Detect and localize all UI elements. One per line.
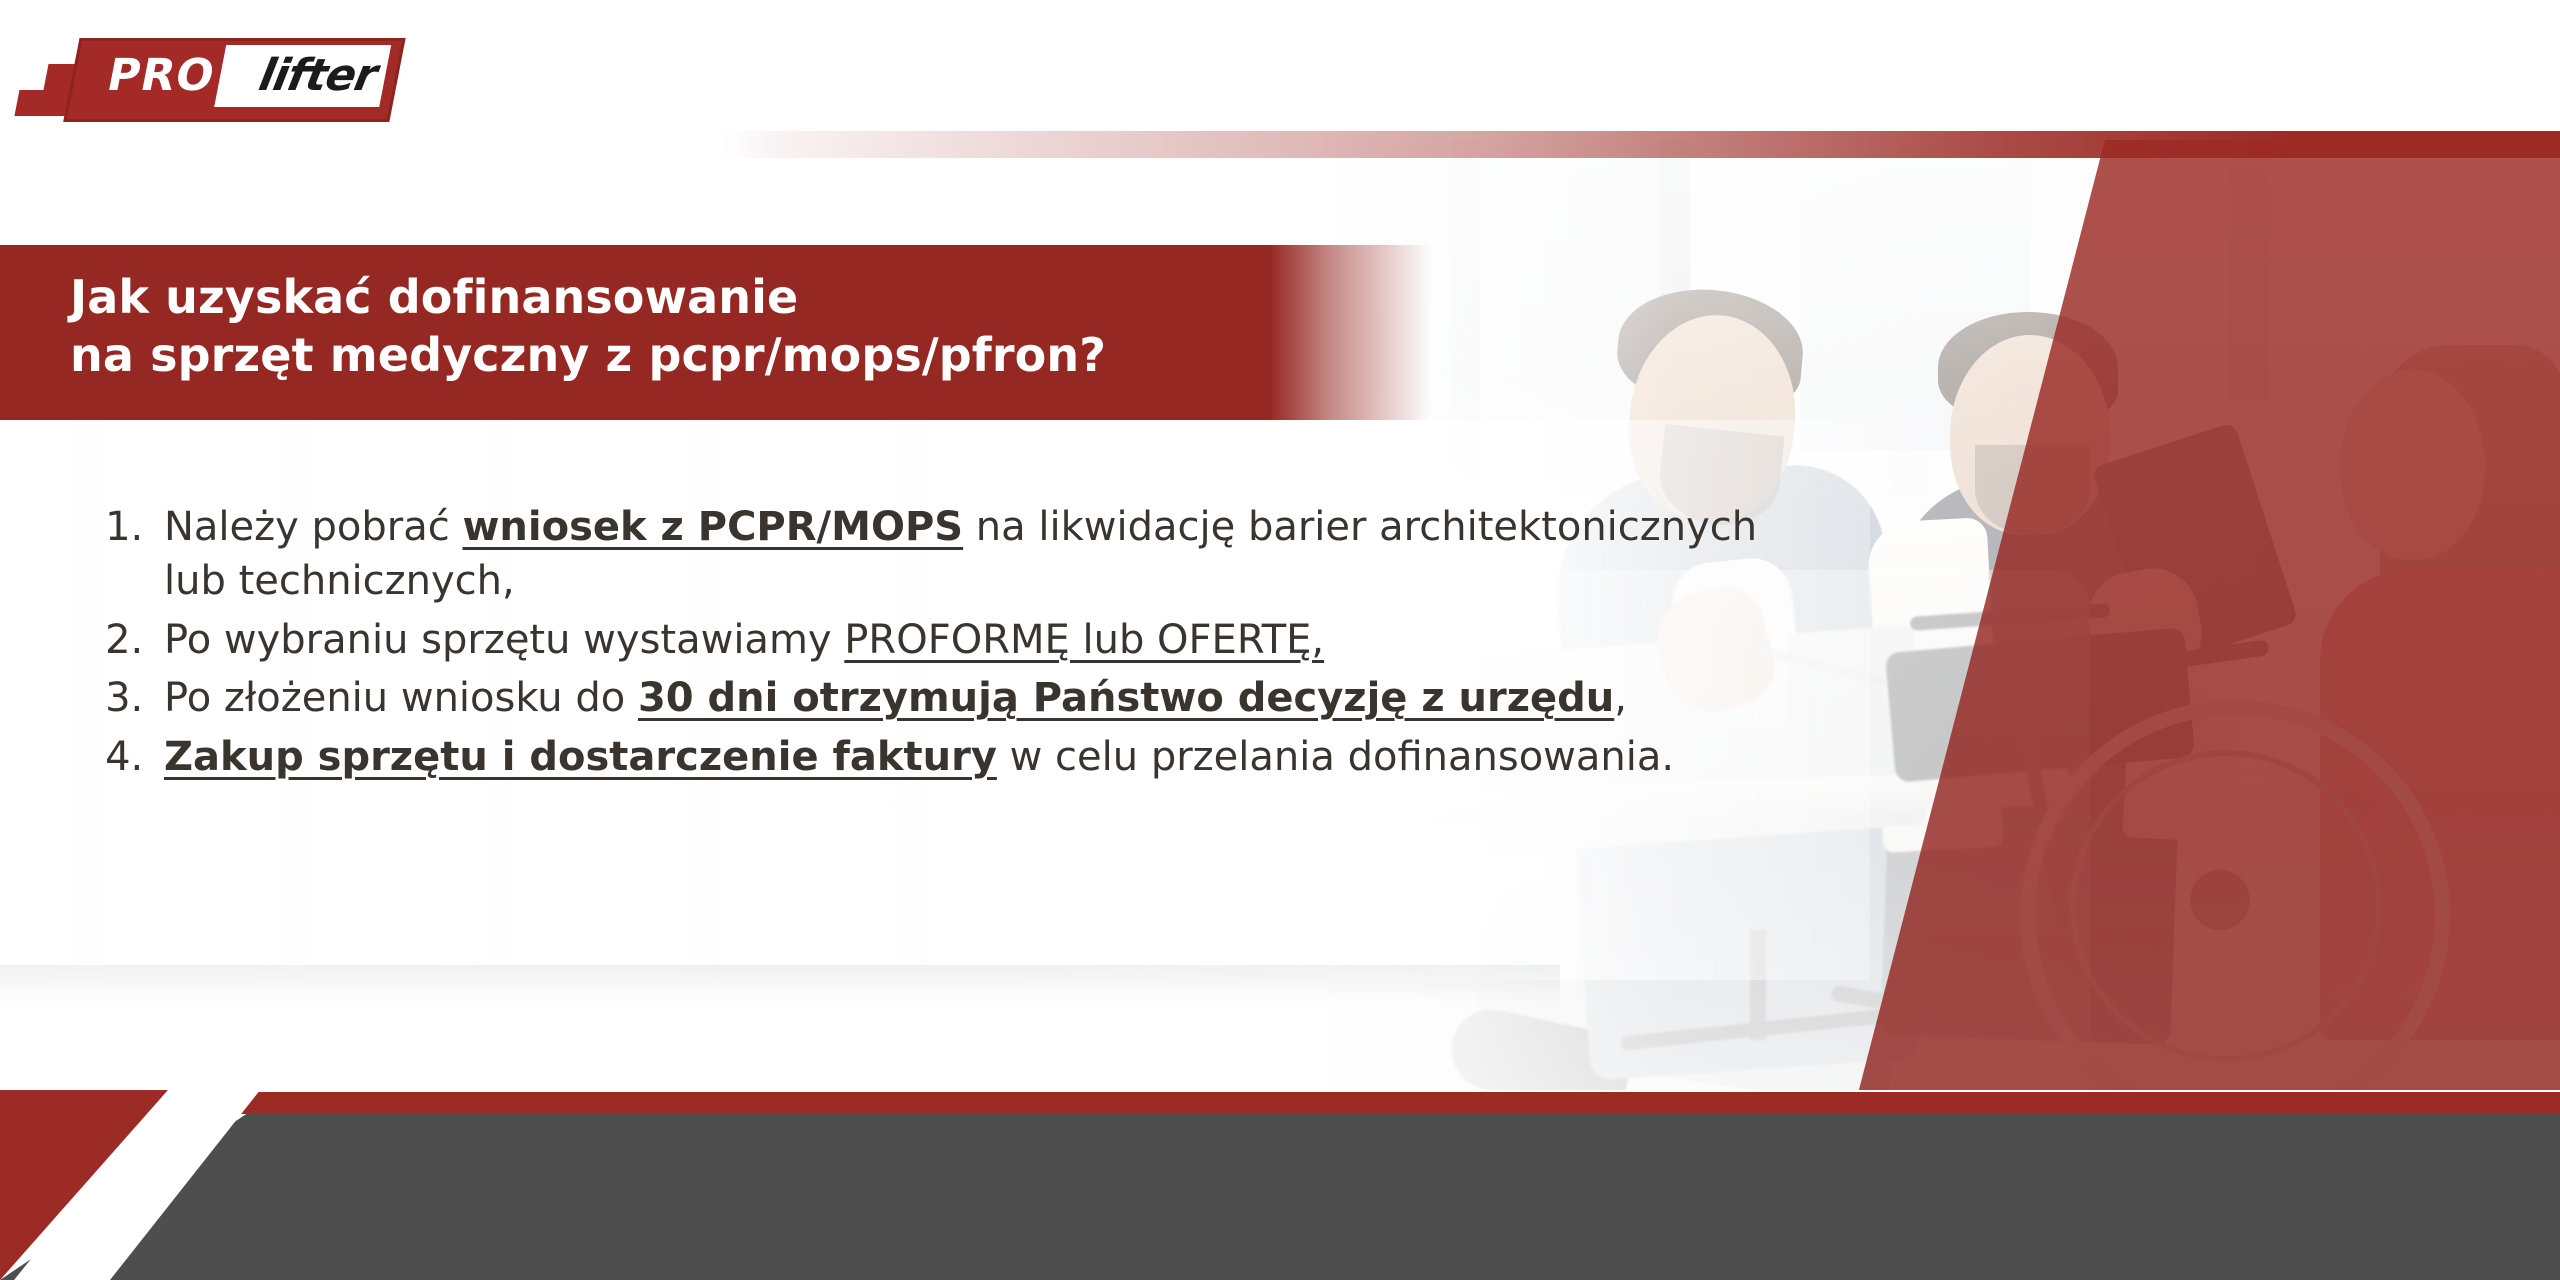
step-text-pre: Należy pobrać [164, 504, 462, 550]
logo-text-pro: PRO [103, 50, 219, 101]
footer-bar [0, 1098, 2560, 1280]
slide-root: PRO lifter Jak uzyskać dofinansowanie na… [0, 0, 2560, 1280]
step-emphasis: Zakup sprzętu i dostarczenie faktury [164, 734, 997, 780]
steps-list: Należy pobrać wniosek z PCPR/MOPS na lik… [96, 500, 1796, 788]
list-item: Należy pobrać wniosek z PCPR/MOPS na lik… [156, 500, 1796, 609]
logo-text-lifter: lifter [255, 50, 381, 101]
page-title: Jak uzyskać dofinansowanie na sprzęt med… [70, 268, 1270, 385]
list-item: Zakup sprzętu i dostarczenie faktury w c… [156, 730, 1796, 784]
step-emphasis: PROFORMĘ lub OFERTĘ, [844, 617, 1324, 663]
step-text-post: w celu przelania dofinansowania. [997, 734, 1674, 780]
step-text-pre: Po wybraniu sprzętu wystawiamy [164, 617, 844, 663]
step-text-pre: Po złożeniu wniosku do [164, 675, 638, 721]
prolifter-logo[interactable]: PRO lifter [72, 38, 392, 116]
content-card-shadow [0, 965, 1560, 1005]
step-emphasis: 30 dni otrzymują Państwo decyzję z urzęd… [638, 675, 1614, 721]
footer-accent-stripe [0, 1092, 2560, 1114]
top-accent-strip [0, 131, 2560, 158]
step-text-post: , [1614, 675, 1627, 721]
step-emphasis: wniosek z PCPR/MOPS [462, 504, 963, 550]
list-item: Po wybraniu sprzętu wystawiamy PROFORMĘ … [156, 613, 1796, 667]
list-item: Po złożeniu wniosku do 30 dni otrzymują … [156, 671, 1796, 725]
